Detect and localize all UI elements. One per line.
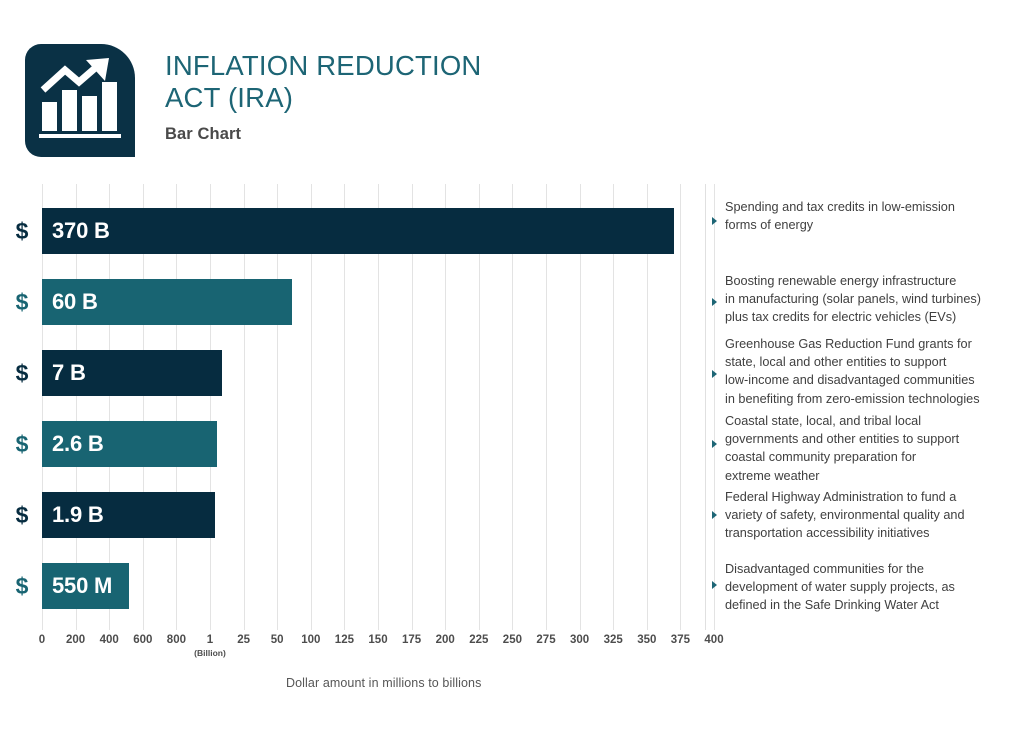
bar-description: Boosting renewable energy infrastructure… — [725, 272, 1017, 327]
x-axis-tick-label: 100 — [301, 634, 320, 646]
title-block: INFLATION REDUCTION ACT (IRA) Bar Chart — [165, 50, 805, 144]
bar-description: Disadvantaged communities for thedevelop… — [725, 560, 1017, 615]
bar-row: $370 B — [42, 208, 674, 254]
bar-description-line: Disadvantaged communities for the — [725, 560, 1017, 578]
bar-description-line: development of water supply projects, as — [725, 578, 1017, 596]
dollar-sign-icon: $ — [6, 563, 38, 609]
bar-description-line: forms of energy — [725, 216, 1017, 234]
x-axis: 02004006008001(Billion)25501001251501752… — [0, 634, 1024, 674]
chart-area: $370 B$60 B$7 B$2.6 B$1.9 B$550 M Spendi… — [0, 184, 1024, 634]
bar-row: $60 B — [42, 279, 292, 325]
bar-description: Greenhouse Gas Reduction Fund grants for… — [725, 335, 1017, 408]
x-axis-tick-label: 25 — [237, 634, 250, 646]
dollar-sign-icon: $ — [6, 350, 38, 396]
plot-region: $370 B$60 B$7 B$2.6 B$1.9 B$550 M — [42, 184, 702, 630]
gridline — [680, 184, 681, 630]
bar-description-line: coastal community preparation for — [725, 448, 1017, 466]
bar-description-line: Coastal state, local, and tribal local — [725, 412, 1017, 430]
bar-description-line: state, local and other entities to suppo… — [725, 353, 1017, 371]
bar-description-line: variety of safety, environmental quality… — [725, 506, 1017, 524]
bar-description-line: defined in the Safe Drinking Water Act — [725, 596, 1017, 614]
x-axis-tick-label: 50 — [271, 634, 284, 646]
page-title-line-1: INFLATION REDUCTION — [165, 50, 805, 82]
dollar-sign-icon: $ — [6, 492, 38, 538]
x-axis-tick-label: 0 — [39, 634, 45, 646]
x-axis-tick-label: 800 — [167, 634, 186, 646]
x-axis-tick-label: 1 — [207, 634, 213, 646]
bar-description-line: Greenhouse Gas Reduction Fund grants for — [725, 335, 1017, 353]
dollar-sign-icon: $ — [6, 208, 38, 254]
dollar-sign-icon: $ — [6, 279, 38, 325]
header: INFLATION REDUCTION ACT (IRA) Bar Chart — [0, 0, 1024, 180]
bar-row: $2.6 B — [42, 421, 217, 467]
x-axis-tick-label: 200 — [436, 634, 455, 646]
x-axis-tick-label: 125 — [335, 634, 354, 646]
bar-value-label: 550 M — [52, 563, 112, 609]
bar-description-line: in manufacturing (solar panels, wind tur… — [725, 290, 1017, 308]
x-axis-tick-label: 300 — [570, 634, 589, 646]
x-axis-tick-label: 175 — [402, 634, 421, 646]
bar-value-label: 2.6 B — [52, 421, 104, 467]
bar-description-line: plus tax credits for electric vehicles (… — [725, 308, 1017, 326]
x-axis-tick-label: 225 — [469, 634, 488, 646]
bar-value-label: 370 B — [52, 208, 110, 254]
bar-description-line: in benefiting from zero-emission technol… — [725, 390, 1017, 408]
x-axis-tick-label: 200 — [66, 634, 85, 646]
description-pointer-icon — [712, 440, 717, 448]
x-axis-tick-label: 400 — [100, 634, 119, 646]
page-subtitle: Bar Chart — [165, 125, 805, 144]
bar-description-line: governments and other entities to suppor… — [725, 430, 1017, 448]
x-axis-tick-label: 350 — [637, 634, 656, 646]
dollar-sign-icon: $ — [6, 421, 38, 467]
x-axis-tick-label: 400 — [704, 634, 723, 646]
x-axis-tick-label: 150 — [368, 634, 387, 646]
x-axis-tick-label: 250 — [503, 634, 522, 646]
bar-row: $1.9 B — [42, 492, 215, 538]
bar — [42, 208, 674, 254]
bar-row: $7 B — [42, 350, 222, 396]
bar-description: Federal Highway Administration to fund a… — [725, 488, 1017, 543]
bar-description-line: Spending and tax credits in low-emission — [725, 198, 1017, 216]
bar-value-label: 7 B — [52, 350, 86, 396]
bar-description-line: extreme weather — [725, 467, 1017, 485]
x-axis-tick-label: 600 — [133, 634, 152, 646]
x-axis-tick-label: 375 — [671, 634, 690, 646]
bar-chart-growth-arrow-icon — [39, 58, 121, 143]
logo-badge — [25, 44, 135, 157]
description-pointer-icon — [712, 217, 717, 225]
bar-description: Coastal state, local, and tribal localgo… — [725, 412, 1017, 485]
bar-description-line: Federal Highway Administration to fund a — [725, 488, 1017, 506]
bar-description-line: Boosting renewable energy infrastructure — [725, 272, 1017, 290]
bar-row: $550 M — [42, 563, 129, 609]
page-title-line-2: ACT (IRA) — [165, 82, 805, 114]
axis-caption: Dollar amount in millions to billions — [286, 676, 481, 690]
x-axis-tick-label: 325 — [604, 634, 623, 646]
gridline — [714, 184, 715, 630]
description-pointer-icon — [712, 581, 717, 589]
bar-description-line: low-income and disadvantaged communities — [725, 371, 1017, 389]
bar-value-label: 60 B — [52, 279, 98, 325]
description-pointer-icon — [712, 370, 717, 378]
bar-value-label: 1.9 B — [52, 492, 104, 538]
bar-description: Spending and tax credits in low-emission… — [725, 198, 1017, 234]
description-pointer-icon — [712, 298, 717, 306]
description-pointer-icon — [712, 511, 717, 519]
x-axis-tick-label: 275 — [536, 634, 555, 646]
x-axis-tick-sublabel-billion: (Billion) — [194, 648, 226, 658]
bar-description-line: transportation accessibility initiatives — [725, 524, 1017, 542]
